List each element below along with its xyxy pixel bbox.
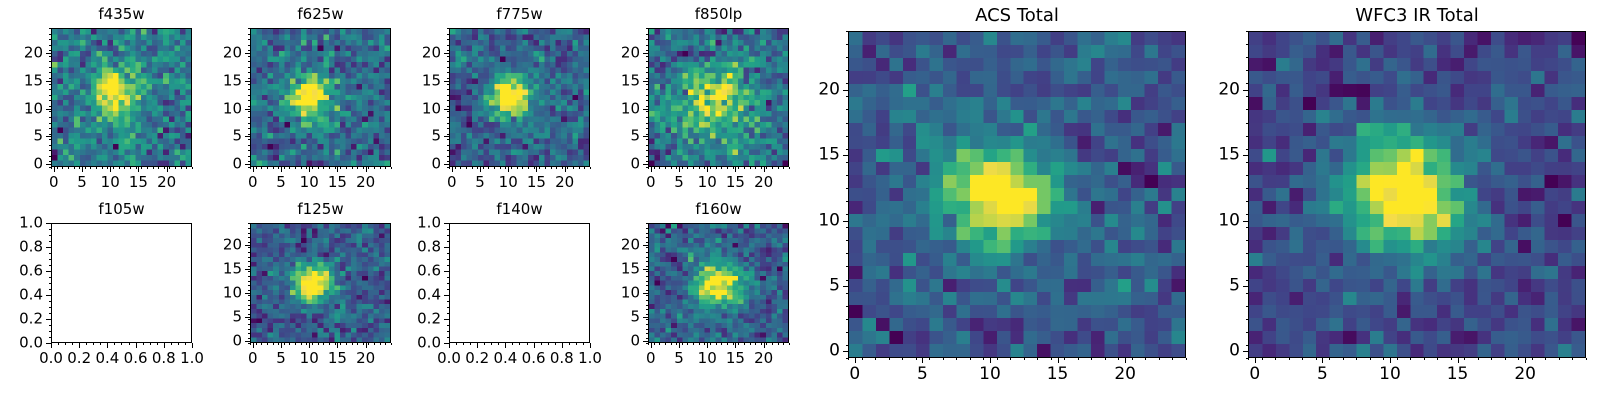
x-minor-tick [1397,358,1398,360]
y-minor-tick [1246,57,1248,58]
y-minor-tick [447,331,449,332]
x-minor-tick [1010,358,1011,360]
x-minor-tick [1559,358,1560,360]
y-minor-tick [49,111,51,112]
x-minor-tick [1262,358,1263,360]
y-minor-tick [248,338,250,339]
y-minor-tick [646,123,648,124]
x-major-tick [707,167,708,172]
y-minor-tick [846,332,848,333]
x-major-tick [366,167,367,172]
x-minor-tick [1370,358,1371,360]
x-minor-tick [1383,358,1384,360]
x-minor-tick [579,167,580,169]
x-minor-tick [682,343,683,345]
x-minor-tick [778,343,779,345]
x-minor-tick [472,167,473,169]
y-major-tick [245,245,250,246]
x-minor-tick [147,167,148,169]
y-minor-tick [248,285,250,286]
y-major-tick [643,81,648,82]
y-tick-label: 5 [1190,278,1240,295]
y-minor-tick [248,84,250,85]
y-minor-tick [49,139,51,140]
y-tick-label: 10 [192,285,242,300]
y-minor-tick [447,106,449,107]
x-major-tick [1322,358,1323,363]
y-minor-tick [646,128,648,129]
x-minor-tick [555,343,556,345]
x-tick-label: 15 [1047,366,1069,383]
y-minor-tick [846,227,848,228]
x-minor-tick [102,167,103,169]
x-minor-tick [750,167,751,169]
x-minor-tick [956,358,957,360]
x-minor-tick [335,167,336,169]
x-minor-tick [755,167,756,169]
y-minor-tick [447,111,449,112]
y-tick-label: 15 [590,73,640,88]
y-minor-tick [646,50,648,51]
y-minor-tick [248,290,250,291]
y-tick-label: 15 [391,73,441,88]
y-minor-tick [248,261,250,262]
x-minor-tick [470,343,471,345]
y-minor-tick [646,156,648,157]
y-minor-tick [846,109,848,110]
y-minor-tick [248,100,250,101]
y-minor-tick [1246,83,1248,84]
y-minor-tick [49,117,51,118]
y-minor-tick [846,214,848,215]
y-tick-label: 5 [790,278,840,295]
heatmap-image-f850lp [649,29,788,166]
heatmap-image-wfc3-ir-total [1249,32,1585,357]
x-minor-tick [100,343,101,345]
y-major-tick [843,155,848,156]
x-minor-tick [648,343,649,345]
y-minor-tick [447,283,449,284]
y-minor-tick [1246,227,1248,228]
axes-acs-total [848,31,1186,358]
x-minor-tick [1329,358,1330,360]
x-minor-tick [466,167,467,169]
x-minor-tick [93,343,94,345]
x-major-tick [110,167,111,172]
x-minor-tick [1289,358,1290,360]
x-tick-label: 5 [674,351,684,366]
y-minor-tick [248,95,250,96]
x-minor-tick [352,343,353,345]
y-minor-tick [248,134,250,135]
x-minor-tick [130,167,131,169]
x-minor-tick [551,167,552,169]
x-minor-tick [352,167,353,169]
x-minor-tick [1248,358,1249,360]
y-minor-tick [248,111,250,112]
x-minor-tick [505,167,506,169]
y-major-tick [444,343,449,344]
y-major-tick [643,164,648,165]
x-tick-label: 10 [499,175,518,190]
y-minor-tick [248,150,250,151]
x-minor-tick [385,343,386,345]
x-tick-label: 20 [555,175,574,190]
x-major-tick [477,343,478,348]
y-minor-tick [646,106,648,107]
y-tick-label: 10 [590,101,640,116]
x-minor-tick [1451,358,1452,360]
x-major-tick [452,167,453,172]
x-minor-tick [671,167,672,169]
axes-f625w [250,28,391,167]
y-minor-tick [846,70,848,71]
y-major-tick [1243,221,1248,222]
x-minor-tick [278,343,279,345]
y-minor-tick [646,28,648,29]
x-minor-tick [119,167,120,169]
y-minor-tick [646,167,648,168]
y-tick-label: 0 [1190,343,1240,360]
x-major-tick [167,167,168,172]
x-minor-tick [534,167,535,169]
x-minor-tick [556,167,557,169]
y-minor-tick [49,123,51,124]
y-minor-tick [646,117,648,118]
x-tick-label: 0 [49,175,59,190]
x-minor-tick [687,343,688,345]
x-tick-label: 0.2 [465,351,489,366]
x-tick-label: 10 [101,175,120,190]
y-major-tick [444,136,449,137]
x-minor-tick [340,343,341,345]
y-major-tick [245,317,250,318]
y-minor-tick [49,253,51,254]
y-tick-label: 20 [391,46,441,61]
x-minor-tick [357,343,358,345]
x-minor-tick [862,358,863,360]
y-tick-label: 5 [590,129,640,144]
y-minor-tick [248,128,250,129]
x-minor-tick [374,343,375,345]
x-tick-label: 10 [698,175,717,190]
y-major-tick [444,223,449,224]
x-tick-label: 15 [527,175,546,190]
x-minor-tick [929,358,930,360]
x-minor-tick [682,167,683,169]
y-tick-label: 0.6 [0,264,43,279]
y-minor-tick [646,237,648,238]
x-major-tick [764,343,765,348]
y-major-tick [843,351,848,352]
y-minor-tick [447,307,449,308]
x-minor-tick [385,167,386,169]
y-tick-label: 5 [590,309,640,324]
y-minor-tick [646,78,648,79]
y-minor-tick [646,45,648,46]
x-minor-tick [143,343,144,345]
y-minor-tick [49,67,51,68]
x-minor-tick [374,167,375,169]
x-tick-label: 1.0 [578,351,602,366]
x-major-tick [764,167,765,172]
panel-acs-total: ACS Total0510152005101520 [848,31,1186,358]
y-minor-tick [1246,123,1248,124]
x-major-tick [707,343,708,348]
x-minor-tick [340,167,341,169]
x-minor-tick [460,167,461,169]
x-tick-label: 0 [447,175,457,190]
y-minor-tick [49,78,51,79]
panel-f435w: f435w0510152005101520 [51,28,192,167]
y-minor-tick [447,241,449,242]
y-tick-label: 0 [590,333,640,348]
x-minor-tick [699,343,700,345]
x-minor-tick [483,167,484,169]
y-minor-tick [447,289,449,290]
x-minor-tick [368,343,369,345]
x-minor-tick [114,343,115,345]
y-minor-tick [248,233,250,234]
y-minor-tick [49,50,51,51]
x-minor-tick [716,167,717,169]
y-tick-label: 1.0 [391,216,441,231]
x-minor-tick [267,167,268,169]
x-minor-tick [175,167,176,169]
y-minor-tick [846,123,848,124]
y-minor-tick [248,266,250,267]
x-minor-tick [363,167,364,169]
x-minor-tick [710,167,711,169]
y-minor-tick [447,89,449,90]
panel-title-f775w: f775w [449,7,590,22]
x-major-tick [337,167,338,172]
y-minor-tick [49,259,51,260]
x-major-tick [281,167,282,172]
x-tick-label: 0 [646,175,656,190]
panel-f140w: f140w0.00.20.40.60.81.00.00.20.40.60.81.… [449,223,590,343]
x-minor-tick [1424,358,1425,360]
y-minor-tick [846,83,848,84]
y-tick-label: 0 [192,333,242,348]
x-minor-tick [498,343,499,345]
y-major-tick [245,109,250,110]
y-minor-tick [447,34,449,35]
y-minor-tick [447,56,449,57]
x-minor-tick [710,343,711,345]
x-major-tick [1255,358,1256,363]
x-minor-tick [548,343,549,345]
x-minor-tick [169,167,170,169]
y-tick-label: 20 [1190,81,1240,98]
x-minor-tick [323,343,324,345]
x-major-tick [51,343,52,348]
x-minor-tick [449,167,450,169]
y-minor-tick [846,253,848,254]
y-minor-tick [1246,240,1248,241]
x-major-tick [536,167,537,172]
x-tick-label: 0 [248,175,258,190]
x-major-tick [79,343,80,348]
y-minor-tick [846,358,848,359]
x-minor-tick [136,167,137,169]
y-minor-tick [447,337,449,338]
x-minor-tick [983,358,984,360]
y-minor-tick [646,281,648,282]
x-minor-tick [267,343,268,345]
x-tick-label: 10 [300,175,319,190]
y-tick-label: 10 [192,101,242,116]
y-major-tick [643,317,648,318]
x-minor-tick [727,343,728,345]
x-minor-tick [654,167,655,169]
x-minor-tick [329,343,330,345]
heatmap-image-f625w [251,29,390,166]
y-major-tick [46,109,51,110]
x-minor-tick [562,167,563,169]
y-minor-tick [49,56,51,57]
y-minor-tick [846,201,848,202]
x-minor-tick [261,167,262,169]
y-minor-tick [49,277,51,278]
y-minor-tick [1246,96,1248,97]
y-major-tick [46,164,51,165]
x-major-tick [508,167,509,172]
x-minor-tick [733,167,734,169]
x-minor-tick [1037,358,1038,360]
y-tick-label: 20 [192,46,242,61]
x-minor-tick [576,343,577,345]
x-minor-tick [1159,358,1160,360]
y-minor-tick [646,95,648,96]
panel-wfc3-ir-total: WFC3 IR Total0510152005101520 [1248,31,1586,358]
x-tick-label: 0 [849,366,860,383]
x-minor-tick [693,167,694,169]
y-major-tick [46,81,51,82]
y-tick-label: 5 [192,309,242,324]
y-minor-tick [447,145,449,146]
x-tick-label: 20 [356,175,375,190]
x-tick-label: 15 [328,351,347,366]
x-minor-tick [527,343,528,345]
x-minor-tick [157,343,158,345]
x-minor-tick [522,167,523,169]
x-minor-tick [150,343,151,345]
x-minor-tick [1051,358,1052,360]
x-minor-tick [124,167,125,169]
x-minor-tick [107,167,108,169]
x-minor-tick [113,167,114,169]
y-minor-tick [846,188,848,189]
x-minor-tick [583,343,584,345]
x-tick-label: 0.6 [124,351,148,366]
panel-title-f850lp: f850lp [648,7,789,22]
y-major-tick [245,53,250,54]
x-minor-tick [665,167,666,169]
y-minor-tick [646,223,648,224]
x-major-tick [82,167,83,172]
x-major-tick [253,167,254,172]
y-minor-tick [248,28,250,29]
x-minor-tick [86,343,87,345]
y-minor-tick [646,309,648,310]
x-minor-tick [312,167,313,169]
y-minor-tick [846,175,848,176]
x-minor-tick [704,343,705,345]
y-major-tick [1243,286,1248,287]
x-minor-tick [1572,358,1573,360]
y-minor-tick [1246,136,1248,137]
x-minor-tick [295,343,296,345]
y-minor-tick [646,161,648,162]
y-minor-tick [447,259,449,260]
x-major-tick [136,343,137,348]
y-tick-label: 5 [0,129,43,144]
x-minor-tick [477,167,478,169]
y-tick-label: 0 [590,157,640,172]
x-tick-label: 20 [1514,366,1536,383]
x-tick-label: 5 [475,175,485,190]
x-tick-label: 5 [1317,366,1328,383]
x-minor-tick [541,343,542,345]
y-major-tick [245,136,250,137]
x-minor-tick [171,343,172,345]
panel-title-f160w: f160w [648,202,789,217]
x-minor-tick [58,343,59,345]
axes-f140w [449,223,590,343]
y-minor-tick [646,300,648,301]
x-minor-tick [500,167,501,169]
axes-f125w [250,223,391,343]
x-minor-tick [256,343,257,345]
x-minor-tick [648,167,649,169]
x-minor-tick [699,167,700,169]
x-minor-tick [335,343,336,345]
y-minor-tick [248,305,250,306]
y-tick-label: 0.0 [0,336,43,351]
y-minor-tick [646,295,648,296]
x-minor-tick [716,343,717,345]
y-minor-tick [248,257,250,258]
heatmap-image-acs-total [849,32,1185,357]
x-minor-tick [1478,358,1479,360]
x-major-tick [735,167,736,172]
y-minor-tick [49,39,51,40]
x-minor-tick [1437,358,1438,360]
x-major-tick [534,343,535,348]
x-tick-label: 0 [248,351,258,366]
y-tick-label: 0.8 [391,240,441,255]
x-tick-label: 0 [646,351,656,366]
panel-f775w: f775w0510152005101520 [449,28,590,167]
x-minor-tick [250,167,251,169]
x-minor-tick [783,343,784,345]
x-minor-tick [1586,358,1587,360]
x-major-tick [1458,358,1459,363]
x-minor-tick [943,358,944,360]
x-tick-label: 10 [1379,366,1401,383]
y-minor-tick [846,136,848,137]
x-minor-tick [312,343,313,345]
x-tick-label: 0.4 [493,351,517,366]
x-tick-label: 20 [157,175,176,190]
y-minor-tick [447,117,449,118]
y-major-tick [245,341,250,342]
x-minor-tick [273,343,274,345]
x-minor-tick [463,343,464,345]
panel-title-wfc3-ir-total: WFC3 IR Total [1248,7,1586,25]
x-minor-tick [744,167,745,169]
